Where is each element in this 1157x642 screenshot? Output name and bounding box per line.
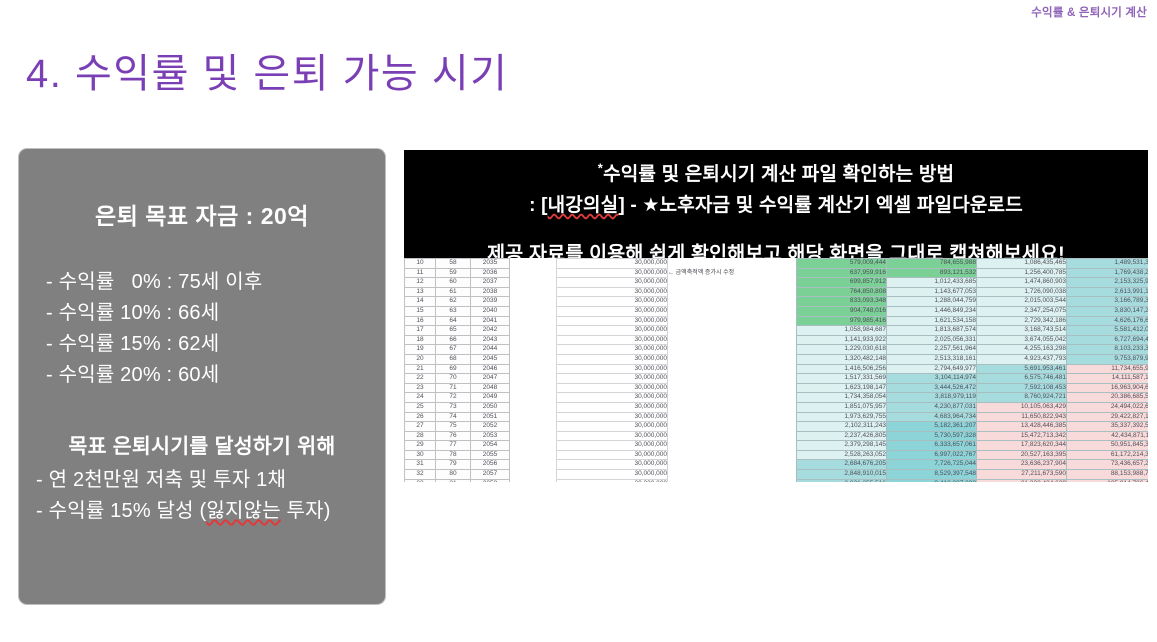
table-row: 2270204730,000,0001,517,331,5693,104,114… xyxy=(405,374,1149,384)
cell-age: 66 xyxy=(436,335,471,345)
cell-note-spacer xyxy=(668,354,797,364)
cell-spacer xyxy=(510,287,557,297)
notice-line-3-spellcheck-term: 캡쳐해보세요 xyxy=(949,243,1058,258)
cell-spacer xyxy=(510,297,557,307)
cell-spacer xyxy=(510,374,557,384)
cell-projection-value: 1,058,984,687 xyxy=(797,326,887,336)
cell-projection-value: 8,103,233,317 xyxy=(1067,345,1149,355)
cell-row-index: 23 xyxy=(405,383,436,393)
cell-year: 2044 xyxy=(471,345,510,355)
action-plan-row-prefix: - 연 2천만원 저축 및 투자 1채 xyxy=(36,469,286,491)
notice-line-2-spellcheck-term: 내강의실 xyxy=(548,195,619,216)
cell-projection-value: 3,021,355,516 xyxy=(797,479,887,482)
cell-projection-value: 1,517,331,569 xyxy=(797,374,887,384)
cell-age: 60 xyxy=(436,278,471,288)
projection-table: 1058203530,000,000579,009,444784,655,988… xyxy=(404,258,1148,482)
cell-spacer xyxy=(510,345,557,355)
cell-projection-value: 833,093,348 xyxy=(797,297,887,307)
cell-note-spacer xyxy=(668,479,797,482)
cell-projection-value: 1,813,687,574 xyxy=(887,326,977,336)
cell-projection-value: 27,211,673,590 xyxy=(977,470,1067,480)
cell-projection-value: 1,446,849,234 xyxy=(887,306,977,316)
cell-projection-value: 1,416,506,256 xyxy=(797,364,887,374)
cell-row-index: 11 xyxy=(405,268,436,278)
cell-contribution: 30,000,000 xyxy=(557,412,668,422)
action-plan-spellcheck-term: 잃지않는 xyxy=(206,500,280,522)
cell-spacer xyxy=(510,402,557,412)
cell-row-index: 27 xyxy=(405,422,436,432)
cell-projection-value: 1,726,090,038 xyxy=(977,287,1067,297)
cell-age: 61 xyxy=(436,287,471,297)
cell-age: 58 xyxy=(436,259,471,269)
cell-projection-value: 6,575,746,481 xyxy=(977,374,1067,384)
cell-age: 63 xyxy=(436,306,471,316)
cell-row-index: 18 xyxy=(405,335,436,345)
cell-projection-value: 2,347,254,075 xyxy=(977,306,1067,316)
cell-age: 64 xyxy=(436,316,471,326)
cell-projection-value: 3,674,055,042 xyxy=(977,335,1067,345)
cell-projection-value: 15,472,713,342 xyxy=(977,431,1067,441)
action-plan-list: - 연 2천만원 저축 및 투자 1채- 수익률 15% 달성 (잃지않는 투자… xyxy=(19,465,385,527)
cell-contribution: 30,000,000 xyxy=(557,374,668,384)
cell-projection-value: 579,009,444 xyxy=(797,259,887,269)
cell-projection-value: 4,255,163,298 xyxy=(977,345,1067,355)
cell-contribution: 30,000,000 xyxy=(557,431,668,441)
cell-year: 2050 xyxy=(471,402,510,412)
cell-year: 2037 xyxy=(471,278,510,288)
cell-projection-value: 1,769,438,291 xyxy=(1067,268,1149,278)
cell-row-index: 12 xyxy=(405,278,436,288)
table-row: 1765204230,000,0001,058,984,6871,813,687… xyxy=(405,326,1149,336)
cell-contribution: 30,000,000 xyxy=(557,278,668,288)
cell-row-index: 15 xyxy=(405,306,436,316)
cell-spacer xyxy=(510,259,557,269)
cell-spacer xyxy=(510,326,557,336)
table-row: 2371204830,000,0001,623,198,1473,444,526… xyxy=(405,383,1149,393)
cell-projection-value: 16,963,904,606 xyxy=(1067,383,1149,393)
cell-projection-value: 2,379,298,145 xyxy=(797,441,887,451)
return-rate-list: - 수익률 0% : 75세 이후- 수익률 10% : 66세- 수익률 15… xyxy=(19,267,385,391)
spreadsheet-screenshot: 1058203530,000,000579,009,444784,655,988… xyxy=(404,258,1148,482)
cell-note-spacer xyxy=(668,470,797,480)
notice-box: *수익률 및 은퇴시기 계산 파일 확인하는 방법 : [내강의실] - ★노후… xyxy=(404,150,1148,258)
cell-year: 2043 xyxy=(471,335,510,345)
cell-year: 2054 xyxy=(471,441,510,451)
cell-note-spacer xyxy=(668,316,797,326)
cell-contribution: 30,000,000 xyxy=(557,326,668,336)
table-row: 1058203530,000,000579,009,444784,655,988… xyxy=(405,259,1149,269)
cell-projection-value: 6,333,657,061 xyxy=(887,441,977,451)
cell-projection-value: 29,422,827,160 xyxy=(1067,412,1149,422)
cell-projection-value: 764,850,808 xyxy=(797,287,887,297)
cell-spacer xyxy=(510,460,557,470)
cell-projection-value: 1,621,534,158 xyxy=(887,316,977,326)
cell-projection-value: 17,823,620,344 xyxy=(977,441,1067,451)
cell-projection-value: 3,830,147,240 xyxy=(1067,306,1149,316)
cell-row-index: 17 xyxy=(405,326,436,336)
return-rate-row: - 수익률 10% : 66세 xyxy=(46,298,385,329)
cell-projection-value: 31,323,424,629 xyxy=(977,479,1067,482)
cell-age: 81 xyxy=(436,479,471,482)
cell-projection-value: 11,734,655,977 xyxy=(1067,364,1149,374)
cell-projection-value: 11,650,822,943 xyxy=(977,412,1067,422)
cell-spacer xyxy=(510,450,557,460)
cell-projection-value: 9,412,337,303 xyxy=(887,479,977,482)
cell-note-spacer xyxy=(668,374,797,384)
cell-year: 2042 xyxy=(471,326,510,336)
cell-spacer xyxy=(510,479,557,482)
table-row: 1462203930,000,000833,093,3481,288,044,7… xyxy=(405,297,1149,307)
cell-projection-value: 2,794,649,977 xyxy=(887,364,977,374)
cell-row-index: 20 xyxy=(405,354,436,364)
table-row: 3280205730,000,0002,848,910,0158,529,397… xyxy=(405,470,1149,480)
cell-projection-value: 1,320,482,148 xyxy=(797,354,887,364)
cell-projection-value: 904,748,016 xyxy=(797,306,887,316)
slide-section-label: 수익률 & 은퇴시기 계산 xyxy=(1031,4,1147,20)
cell-row-index: 24 xyxy=(405,393,436,403)
cell-contribution: 30,000,000 xyxy=(557,297,668,307)
cell-contribution: 30,000,000 xyxy=(557,422,668,432)
cell-projection-value: 2,528,263,052 xyxy=(797,450,887,460)
goal-subheading: 목표 은퇴시기를 달성하기 위해 xyxy=(19,429,385,459)
cell-projection-value: 6,997,022,767 xyxy=(887,450,977,460)
cell-contribution: 30,000,000 xyxy=(557,383,668,393)
cell-contribution: 30,000,000 xyxy=(557,316,668,326)
cell-note-spacer xyxy=(668,402,797,412)
cell-note-spacer xyxy=(668,412,797,422)
cell-year: 2052 xyxy=(471,422,510,432)
table-row: 1361203830,000,000764,850,8081,143,677,0… xyxy=(405,287,1149,297)
cell-spacer xyxy=(510,422,557,432)
cell-spacer xyxy=(510,364,557,374)
cell-row-index: 14 xyxy=(405,297,436,307)
cell-projection-value: 8,760,924,721 xyxy=(977,393,1067,403)
cell-age: 80 xyxy=(436,470,471,480)
action-plan-row-prefix: - 수익률 15% 달성 ( xyxy=(36,500,206,522)
cell-projection-value: 3,444,526,472 xyxy=(887,383,977,393)
cell-projection-value: 2,015,003,544 xyxy=(977,297,1067,307)
cell-note-spacer xyxy=(668,326,797,336)
cell-year: 2056 xyxy=(471,460,510,470)
cell-spacer xyxy=(510,335,557,345)
cell-projection-value: 1,489,531,369 xyxy=(1067,259,1149,269)
cell-projection-value: 7,726,725,044 xyxy=(887,460,977,470)
cell-age: 76 xyxy=(436,431,471,441)
cell-projection-value: 2,684,676,205 xyxy=(797,460,887,470)
cell-projection-value: 1,623,198,147 xyxy=(797,383,887,393)
table-row: 2472204930,000,0001,734,358,0543,818,979… xyxy=(405,393,1149,403)
cell-row-index: 26 xyxy=(405,412,436,422)
cell-contribution: 30,000,000 xyxy=(557,402,668,412)
cell-projection-value: 35,337,392,592 xyxy=(1067,422,1149,432)
cell-projection-value: 61,172,214,398 xyxy=(1067,450,1149,460)
cell-note-spacer xyxy=(668,460,797,470)
cell-row-index: 28 xyxy=(405,431,436,441)
cell-projection-value: 1,474,860,903 xyxy=(977,278,1067,288)
cell-spacer xyxy=(510,412,557,422)
cell-projection-value: 1,143,677,053 xyxy=(887,287,977,297)
cell-projection-value: 1,851,075,957 xyxy=(797,402,887,412)
cell-projection-value: 20,527,163,395 xyxy=(977,450,1067,460)
table-row: 3078205530,000,0002,528,263,0526,997,022… xyxy=(405,450,1149,460)
cell-spacer xyxy=(510,268,557,278)
cell-spacer xyxy=(510,383,557,393)
cell-projection-value: 2,513,318,161 xyxy=(887,354,977,364)
cell-age: 62 xyxy=(436,297,471,307)
cell-projection-value: 1,141,933,922 xyxy=(797,335,887,345)
cell-projection-value: 1,734,358,054 xyxy=(797,393,887,403)
return-rate-row: - 수익률 0% : 75세 이후 xyxy=(46,267,385,298)
cell-year: 2058 xyxy=(471,479,510,482)
cell-row-index: 10 xyxy=(405,259,436,269)
table-row: 1260203730,000,000699,857,9121,012,433,6… xyxy=(405,278,1149,288)
cell-year: 2040 xyxy=(471,306,510,316)
cell-projection-value: 13,428,446,385 xyxy=(977,422,1067,432)
cell-row-index: 16 xyxy=(405,316,436,326)
cell-age: 74 xyxy=(436,412,471,422)
cell-contribution: 30,000,000 xyxy=(557,393,668,403)
cell-row-index: 31 xyxy=(405,460,436,470)
cell-age: 75 xyxy=(436,422,471,432)
cell-contribution: 30,000,000 xyxy=(557,364,668,374)
cell-projection-value: 14,111,587,172 xyxy=(1067,374,1149,384)
cell-year: 2053 xyxy=(471,431,510,441)
cell-note-spacer xyxy=(668,345,797,355)
cell-contribution: 30,000,000 xyxy=(557,441,668,451)
cell-projection-value: 10,105,063,429 xyxy=(977,402,1067,412)
cell-projection-value: 8,529,397,548 xyxy=(887,470,977,480)
cell-projection-value: 4,923,437,793 xyxy=(977,354,1067,364)
cell-note-spacer xyxy=(668,422,797,432)
cell-note-spacer xyxy=(668,335,797,345)
cell-projection-value: 88,153,988,734 xyxy=(1067,470,1149,480)
notice-line-3-suffix: ! xyxy=(1058,243,1065,258)
cell-note-spacer xyxy=(668,393,797,403)
cell-row-index: 25 xyxy=(405,402,436,412)
cell-spacer xyxy=(510,431,557,441)
cell-year: 2036 xyxy=(471,268,510,278)
cell-note-spacer xyxy=(668,278,797,288)
cell-note-spacer xyxy=(668,306,797,316)
notice-line-2: : [내강의실] - ★노후자금 및 수익률 계산기 엑셀 파일다운로드 xyxy=(404,190,1148,217)
table-row: 1967204430,000,0001,229,030,6182,257,561… xyxy=(405,345,1149,355)
cell-projection-value: 5,581,412,026 xyxy=(1067,326,1149,336)
action-plan-row: - 연 2천만원 저축 및 투자 1채 xyxy=(36,465,385,496)
table-row: 1563204030,000,000904,748,0161,446,849,2… xyxy=(405,306,1149,316)
cell-note-spacer xyxy=(668,259,797,269)
retirement-goal-panel: 은퇴 목표 자금 : 20억 - 수익률 0% : 75세 이후- 수익률 10… xyxy=(18,148,386,605)
table-row: 3381205830,000,0003,021,355,5169,412,337… xyxy=(405,479,1149,482)
cell-year: 2047 xyxy=(471,374,510,384)
cell-contribution: 30,000,000 xyxy=(557,306,668,316)
cell-projection-value: 4,626,176,688 xyxy=(1067,316,1149,326)
cell-projection-value: 50,951,845,332 xyxy=(1067,441,1149,451)
notice-line-1-text: 수익률 및 은퇴시기 계산 파일 확인하는 방법 xyxy=(603,164,954,185)
cell-projection-value: 3,168,743,514 xyxy=(977,326,1067,336)
cell-spacer xyxy=(510,306,557,316)
goal-heading: 은퇴 목표 자금 : 20억 xyxy=(19,197,385,231)
cell-note-spacer xyxy=(668,287,797,297)
cell-row-index: 29 xyxy=(405,441,436,451)
table-row: 2977205430,000,0002,379,298,1456,333,657… xyxy=(405,441,1149,451)
action-plan-row-suffix: 투자) xyxy=(281,500,331,522)
cell-row-index: 22 xyxy=(405,374,436,384)
cell-contribution: 30,000,000 xyxy=(557,268,668,278)
cell-age: 79 xyxy=(436,460,471,470)
cell-age: 68 xyxy=(436,354,471,364)
cell-projection-value: 73,436,657,278 xyxy=(1067,460,1149,470)
cell-projection-value: 2,257,561,964 xyxy=(887,345,977,355)
cell-row-index: 30 xyxy=(405,450,436,460)
cell-projection-value: 699,857,912 xyxy=(797,278,887,288)
table-row: 2169204630,000,0001,416,506,2562,794,649… xyxy=(405,364,1149,374)
cell-projection-value: 20,386,685,528 xyxy=(1067,393,1149,403)
cell-note-spacer xyxy=(668,364,797,374)
cell-projection-value: 7,592,108,453 xyxy=(977,383,1067,393)
cell-projection-value: 3,104,114,974 xyxy=(887,374,977,384)
notice-line-1: *수익률 및 은퇴시기 계산 파일 확인하는 방법 xyxy=(404,159,1148,186)
cell-year: 2045 xyxy=(471,354,510,364)
cell-spacer xyxy=(510,354,557,364)
cell-spacer xyxy=(510,441,557,451)
cell-contribution: 30,000,000 xyxy=(557,287,668,297)
cell-projection-value: 2,102,311,243 xyxy=(797,422,887,432)
cell-projection-value: 5,691,953,461 xyxy=(977,364,1067,374)
table-row: 1664204130,000,000979,985,4161,621,534,1… xyxy=(405,316,1149,326)
cell-age: 73 xyxy=(436,402,471,412)
cell-age: 72 xyxy=(436,393,471,403)
cell-projection-value: 2,848,910,015 xyxy=(797,470,887,480)
cell-year: 2046 xyxy=(471,364,510,374)
cell-year: 2038 xyxy=(471,287,510,297)
cell-projection-value: 2,153,325,949 xyxy=(1067,278,1149,288)
cell-projection-value: 1,012,433,685 xyxy=(887,278,977,288)
cell-contribution: 30,000,000 xyxy=(557,259,668,269)
cell-age: 65 xyxy=(436,326,471,336)
cell-projection-value: 4,230,877,031 xyxy=(887,402,977,412)
cell-spacer xyxy=(510,470,557,480)
cell-projection-value: 3,166,789,367 xyxy=(1067,297,1149,307)
cell-contribution: 30,000,000 xyxy=(557,345,668,355)
cell-projection-value: 2,025,056,331 xyxy=(887,335,977,345)
cell-contribution: 30,000,000 xyxy=(557,470,668,480)
cell-projection-value: 5,182,361,207 xyxy=(887,422,977,432)
notice-line-2-suffix: ] - ★노후자금 및 수익률 계산기 엑셀 파일다운로드 xyxy=(618,195,1023,216)
cell-age: 78 xyxy=(436,450,471,460)
cell-age: 77 xyxy=(436,441,471,451)
cell-note-spacer xyxy=(668,431,797,441)
cell-projection-value: 1,229,030,618 xyxy=(797,345,887,355)
cell-note-spacer xyxy=(668,450,797,460)
cell-projection-value: 6,727,694,431 xyxy=(1067,335,1149,345)
return-rate-row: - 수익률 15% : 62세 xyxy=(46,329,385,360)
cell-projection-value: 1,288,044,759 xyxy=(887,297,977,307)
cell-row-index: 19 xyxy=(405,345,436,355)
return-rate-row: - 수익률 20% : 60세 xyxy=(46,360,385,391)
cell-year: 2039 xyxy=(471,297,510,307)
cell-contribution: 30,000,000 xyxy=(557,460,668,470)
table-row: 1159203630,000,000← 금액축적액 증가시 수정637,959,… xyxy=(405,268,1149,278)
cell-projection-value: 637,959,916 xyxy=(797,268,887,278)
action-plan-row: - 수익률 15% 달성 (잃지않는 투자) xyxy=(36,496,385,527)
cell-year: 2041 xyxy=(471,316,510,326)
cell-age: 67 xyxy=(436,345,471,355)
cell-age: 71 xyxy=(436,383,471,393)
cell-projection-value: 1,973,629,755 xyxy=(797,412,887,422)
cell-age: 59 xyxy=(436,268,471,278)
cell-row-index: 21 xyxy=(405,364,436,374)
cell-contribution: 30,000,000 xyxy=(557,354,668,364)
cell-annotation: ← 금액축적액 증가시 수정 xyxy=(668,268,797,278)
cell-row-index: 13 xyxy=(405,287,436,297)
cell-projection-value: 23,636,237,904 xyxy=(977,460,1067,470)
cell-year: 2055 xyxy=(471,450,510,460)
cell-spacer xyxy=(510,393,557,403)
cell-spacer xyxy=(510,316,557,326)
cell-row-index: 33 xyxy=(405,479,436,482)
cell-projection-value: 105,814,786,480 xyxy=(1067,479,1149,482)
cell-projection-value: 1,256,400,785 xyxy=(977,268,1067,278)
cell-projection-value: 2,729,342,186 xyxy=(977,316,1067,326)
table-row: 3179205630,000,0002,684,676,2057,726,725… xyxy=(405,460,1149,470)
cell-row-index: 32 xyxy=(405,470,436,480)
table-row: 2573205030,000,0001,851,075,9574,230,877… xyxy=(405,402,1149,412)
cell-year: 2048 xyxy=(471,383,510,393)
cell-projection-value: 42,434,871,110 xyxy=(1067,431,1149,441)
cell-projection-value: 9,753,879,980 xyxy=(1067,354,1149,364)
cell-spacer xyxy=(510,278,557,288)
page-title: 4. 수익률 및 은퇴 가능 시기 xyxy=(26,41,508,99)
cell-year: 2057 xyxy=(471,470,510,480)
table-row: 2775205230,000,0002,102,311,2435,182,361… xyxy=(405,422,1149,432)
cell-age: 70 xyxy=(436,374,471,384)
cell-note-spacer xyxy=(668,441,797,451)
table-row: 2674205130,000,0001,973,629,7554,683,964… xyxy=(405,412,1149,422)
table-row: 2068204530,000,0001,320,482,1482,513,318… xyxy=(405,354,1149,364)
cell-note-spacer xyxy=(668,297,797,307)
notice-line-3: 제공 자료를 이용해 쉽게 확인해보고 해당 화면을 그대로 캡쳐해보세요! xyxy=(404,237,1148,258)
cell-projection-value: 5,730,597,328 xyxy=(887,431,977,441)
cell-contribution: 30,000,000 xyxy=(557,335,668,345)
cell-contribution: 30,000,000 xyxy=(557,479,668,482)
cell-age: 69 xyxy=(436,364,471,374)
cell-projection-value: 893,121,532 xyxy=(887,268,977,278)
cell-year: 2035 xyxy=(471,259,510,269)
cell-projection-value: 4,683,964,734 xyxy=(887,412,977,422)
cell-projection-value: 784,655,988 xyxy=(887,259,977,269)
cell-year: 2049 xyxy=(471,393,510,403)
table-row: 2876205330,000,0002,237,426,8055,730,597… xyxy=(405,431,1149,441)
notice-line-3-prefix: 제공 자료를 이용해 쉽게 확인해보고 해당 화면을 그대로 xyxy=(487,243,949,258)
cell-projection-value: 979,985,416 xyxy=(797,316,887,326)
cell-contribution: 30,000,000 xyxy=(557,450,668,460)
cell-note-spacer xyxy=(668,383,797,393)
cell-projection-value: 1,086,435,465 xyxy=(977,259,1067,269)
cell-projection-value: 2,613,991,139 xyxy=(1067,287,1149,297)
notice-line-2-prefix: : [ xyxy=(529,195,548,216)
cell-year: 2051 xyxy=(471,412,510,422)
table-row: 1866204330,000,0001,141,933,9222,025,056… xyxy=(405,335,1149,345)
cell-projection-value: 3,818,979,119 xyxy=(887,393,977,403)
cell-projection-value: 24,494,022,633 xyxy=(1067,402,1149,412)
cell-projection-value: 2,237,426,805 xyxy=(797,431,887,441)
